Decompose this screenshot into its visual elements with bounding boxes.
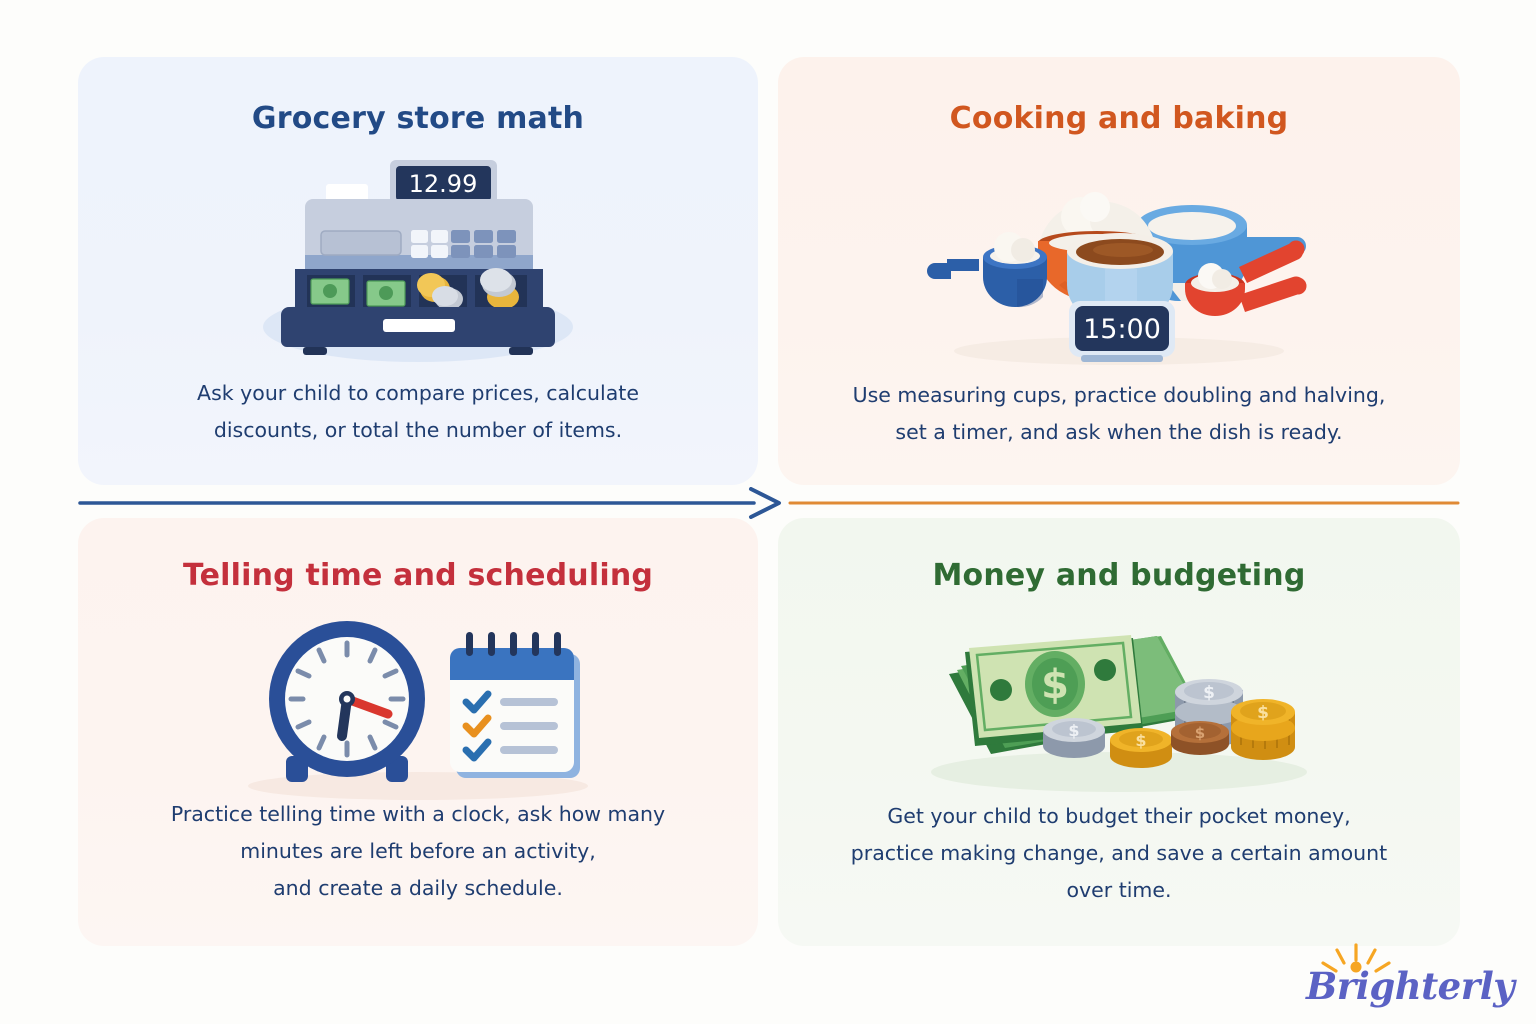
loose-gold-coin-symbol: $: [1135, 731, 1146, 750]
calendar-icon: [450, 632, 580, 778]
bronze-coin-icon: $: [1171, 721, 1229, 755]
kitchen-timer-icon: 15:00: [1069, 301, 1175, 362]
panel-body-cooking-and-baking: Use measuring cups, practice doubling an…: [812, 377, 1426, 451]
alarm-clock-icon: [269, 621, 425, 782]
panel-money-and-budgeting: Money and budgeting: [778, 518, 1460, 946]
brighterly-logo-text: Brighterly: [1306, 964, 1506, 1008]
bill-dollar-symbol: $: [1041, 662, 1069, 708]
panel-title-telling-time-and-scheduling: Telling time and scheduling: [78, 558, 758, 593]
divider-arrow: [78, 487, 1460, 519]
small-blue-measuring-cup-icon: [927, 232, 1047, 307]
cooking-svg: 15:00: [909, 155, 1329, 367]
divider-svg: [78, 487, 1460, 519]
alarm-clock-and-calendar-illustration: [78, 610, 758, 800]
panel-title-money-and-budgeting: Money and budgeting: [778, 558, 1460, 593]
panel-grocery-store-math: Grocery store math 12.99: [78, 57, 758, 485]
cash-register-svg: 12.99: [253, 157, 583, 365]
gold-coin-stack-symbol: $: [1257, 703, 1269, 723]
panel-title-grocery-store-math: Grocery store math: [78, 101, 758, 136]
bronze-coin-symbol: $: [1195, 724, 1205, 742]
gold-coin-stack-icon: $: [1231, 699, 1295, 760]
panel-title-cooking-and-baking: Cooking and baking: [778, 101, 1460, 136]
measuring-cups-and-timer-illustration: 15:00: [778, 155, 1460, 367]
panel-body-money-and-budgeting: Get your child to budget their pocket mo…: [812, 798, 1426, 909]
panel-body-grocery-store-math: Ask your child to compare prices, calcul…: [112, 375, 724, 449]
cash-register-illustration: 12.99: [78, 155, 758, 365]
register-display-value: 12.99: [409, 170, 478, 198]
cash-and-coins-illustration: $: [778, 614, 1460, 794]
infographic-board: Grocery store math 12.99: [0, 0, 1536, 1024]
silver-coin-symbol: $: [1203, 683, 1215, 703]
panel-telling-time-and-scheduling: Telling time and scheduling: [78, 518, 758, 946]
loose-gold-coin-icon: $: [1110, 728, 1172, 768]
panel-body-telling-time-and-scheduling: Practice telling time with a clock, ask …: [112, 796, 724, 907]
timer-display-value: 15:00: [1083, 314, 1161, 345]
loose-silver-coin-icon: $: [1043, 718, 1105, 758]
panel-cooking-and-baking: Cooking and baking: [778, 57, 1460, 485]
money-svg: $: [919, 622, 1319, 794]
loose-silver-coin-symbol: $: [1068, 721, 1079, 740]
brighterly-logo[interactable]: Brighterly: [1306, 936, 1506, 1010]
clock-calendar-svg: [238, 614, 598, 800]
